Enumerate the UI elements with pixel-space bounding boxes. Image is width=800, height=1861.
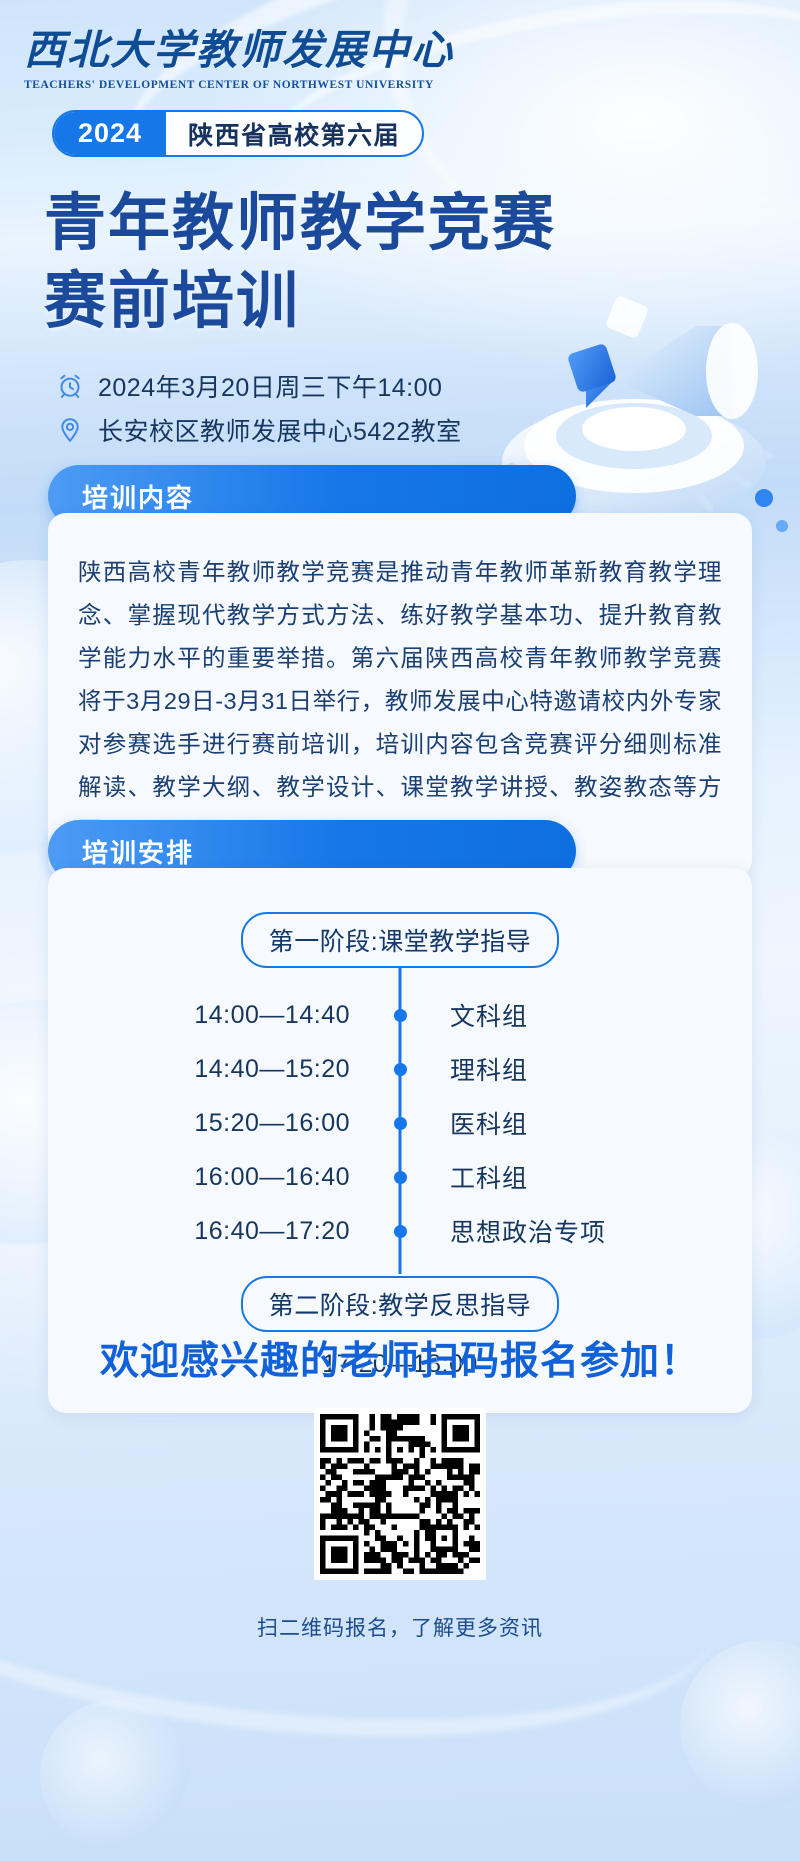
qr-code-icon[interactable] [320,1414,480,1574]
section-title-content: 培训内容 [48,478,194,515]
schedule-row-group: 思想政治专项 [400,1213,752,1249]
decorative-blob [40,1700,190,1850]
schedule-row: 15:20—16:00医科组 [48,1096,752,1150]
decorative-blob [680,1640,800,1810]
timeline-dot [394,1225,407,1238]
timeline-dot [394,1171,407,1184]
schedule-row-group: 文科组 [400,997,752,1033]
schedule-row: 16:40—17:20思想政治专项 [48,1204,752,1258]
timeline-dot [394,1063,407,1076]
badge-subtitle: 陕西省高校第六届 [166,112,422,155]
training-content-paragraph: 陕西高校青年教师教学竞赛是推动青年教师革新教育教学理念、掌握现代教学方式方法、练… [78,551,722,852]
logo-chinese-name: 西北大学教师发展中心 [24,16,424,76]
organization-logo: 西北大学教师发展中心 TEACHERS' DEVELOPMENT CENTER … [24,16,424,91]
schedule-row-time: 14:00—14:40 [48,1001,400,1030]
poster-root: 西北大学教师发展中心 TEACHERS' DEVELOPMENT CENTER … [0,0,800,1861]
schedule-timeline: 14:00—14:40文科组14:40—15:20理科组15:20—16:00医… [48,982,752,1260]
qr-caption: 扫二维码报名，了解更多资讯 [0,1612,800,1642]
schedule-row-time: 14:40—15:20 [48,1055,400,1084]
welcome-callout: 欢迎感兴趣的老师扫码报名参加！ [0,1330,800,1386]
event-date-text: 2024年3月20日周三下午14:00 [98,368,442,404]
section-title-schedule: 培训安排 [48,833,194,870]
timeline-dot [394,1117,407,1130]
alarm-clock-icon [56,372,84,400]
qr-code-container[interactable] [314,1408,486,1580]
event-location-text: 长安校区教师发展中心5422教室 [98,412,462,448]
timeline-dot [394,1009,407,1022]
schedule-row: 14:40—15:20理科组 [48,1042,752,1096]
schedule-row-group: 医科组 [400,1105,752,1141]
schedule-row-group: 工科组 [400,1159,752,1195]
schedule-row-time: 15:20—16:00 [48,1109,400,1138]
stage-two-label: 第二阶段:教学反思指导 [241,1276,559,1332]
logo-english-name: TEACHERS' DEVELOPMENT CENTER OF NORTHWES… [24,79,424,91]
stage-one-label: 第一阶段:课堂教学指导 [241,912,559,968]
badge-year: 2024 [54,112,166,155]
page-title-line1: 青年教师教学竞赛 [44,172,556,262]
schedule-row-time: 16:40—17:20 [48,1217,400,1246]
schedule-row: 16:00—16:40工科组 [48,1150,752,1204]
schedule-row-time: 16:00—16:40 [48,1163,400,1192]
event-badge: 2024 陕西省高校第六届 [52,110,424,157]
event-date-row: 2024年3月20日周三下午14:00 [56,365,442,407]
schedule-row: 14:00—14:40文科组 [48,988,752,1042]
schedule-row-group: 理科组 [400,1051,752,1087]
event-location-row: 长安校区教师发展中心5422教室 [56,409,462,451]
map-pin-icon [56,416,84,444]
page-title-line2: 赛前培训 [44,250,300,340]
